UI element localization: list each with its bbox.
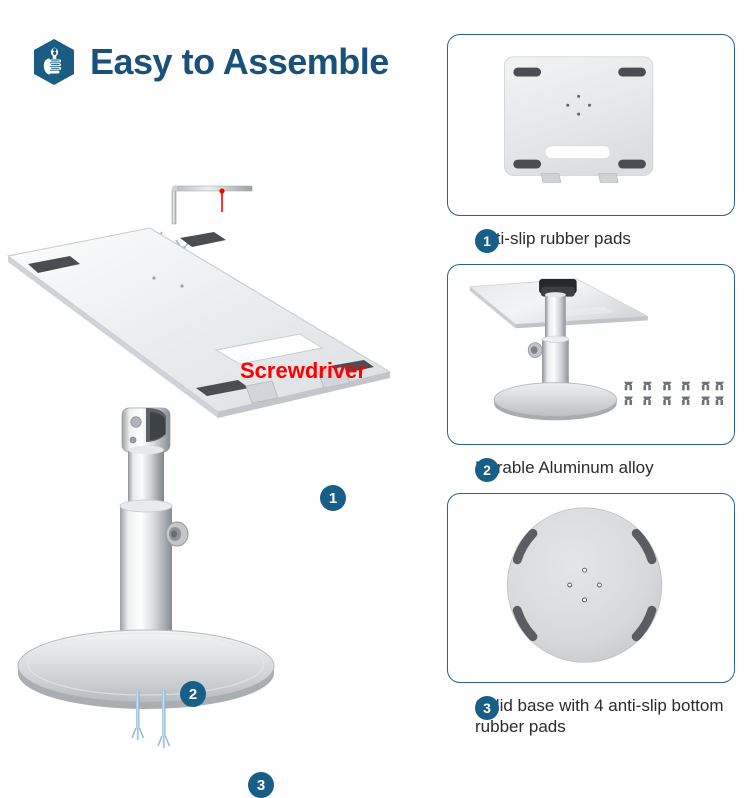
- page-title: Easy to Assemble: [90, 44, 389, 80]
- header: Easy to Assemble: [32, 38, 389, 86]
- callout-badge-base: 3: [248, 772, 274, 798]
- callout-badge-tray: 1: [320, 485, 346, 511]
- caption-badge-2: 2: [475, 458, 499, 482]
- caption-2: 2 Durable Aluminum alloy: [475, 457, 735, 479]
- caption-text-3: Solid base with 4 anti-slip bottom rubbe…: [475, 695, 735, 739]
- exploded-assembly-illustration: Screwdriver 1 2 3: [0, 150, 430, 750]
- callout-badge-column: 2: [180, 681, 206, 707]
- height-adjust-knob: [166, 522, 188, 546]
- tray-top-view-graphic: [504, 57, 652, 183]
- panel-assembled-stand: [447, 264, 735, 445]
- screw-glyph-grid: [624, 381, 724, 404]
- caption-text-2: Durable Aluminum alloy: [475, 457, 654, 479]
- panel-base-bottom-view: [447, 493, 735, 683]
- feature-block-3: 3 Solid base with 4 anti-slip bottom rub…: [447, 493, 735, 739]
- base-bottom-graphic: [507, 507, 661, 661]
- round-metal-base: [18, 630, 274, 709]
- feature-block-1: 1 Anti-slip rubber pads: [447, 34, 735, 250]
- tilt-hinge-head: [122, 408, 170, 452]
- caption-badge-3: 3: [475, 696, 499, 720]
- panel-tray-top-view: [447, 34, 735, 216]
- caption-3: 3 Solid base with 4 anti-slip bottom rub…: [475, 695, 735, 739]
- caption-1: 1 Anti-slip rubber pads: [475, 228, 735, 250]
- laptop-tray-top-plate: [8, 228, 390, 418]
- hex-key-allen-wrench-icon: [172, 186, 252, 224]
- assembled-stand-graphic: [470, 279, 648, 420]
- feature-block-2: 2 Durable Aluminum alloy: [447, 264, 735, 479]
- screwdriver-leader-line: [219, 188, 224, 212]
- feature-panel-list: 1 Anti-slip rubber pads: [447, 34, 735, 738]
- caption-badge-1: 1: [475, 229, 499, 253]
- infographic-canvas: Easy to Assemble: [0, 0, 750, 750]
- screwdriver-label: Screwdriver: [240, 358, 366, 384]
- wrench-in-hand-hexagon-icon: [32, 38, 76, 86]
